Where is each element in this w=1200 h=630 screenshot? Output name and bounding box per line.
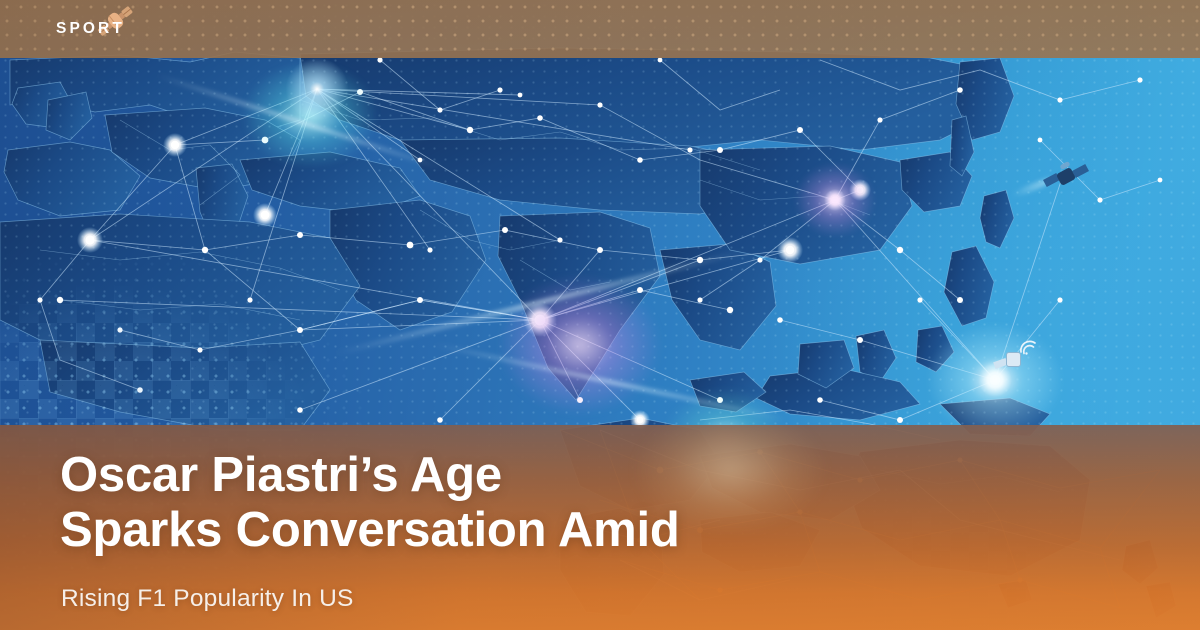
- satellite-upper-right-icon: [1044, 160, 1090, 200]
- wifi-signal-icon: [1018, 338, 1040, 356]
- headline-line-1: Oscar Piastri’s Age: [60, 448, 1040, 503]
- headline-line-2: Sparks Conversation Amid: [60, 503, 1040, 558]
- top-brand-bar: SPORT: [0, 0, 1200, 58]
- page-subtitle: Rising F1 Popularity In US: [61, 585, 354, 613]
- satellite-wifi-icon: [992, 338, 1038, 380]
- social-share-card: SPORT Oscar Piastri’s Age Sparks Convers…: [0, 0, 1200, 630]
- page-title: Oscar Piastri’s Age Sparks Conversation …: [60, 448, 1040, 559]
- topbar-color-wash: [0, 0, 1200, 58]
- brand-label: SPORT: [56, 20, 125, 38]
